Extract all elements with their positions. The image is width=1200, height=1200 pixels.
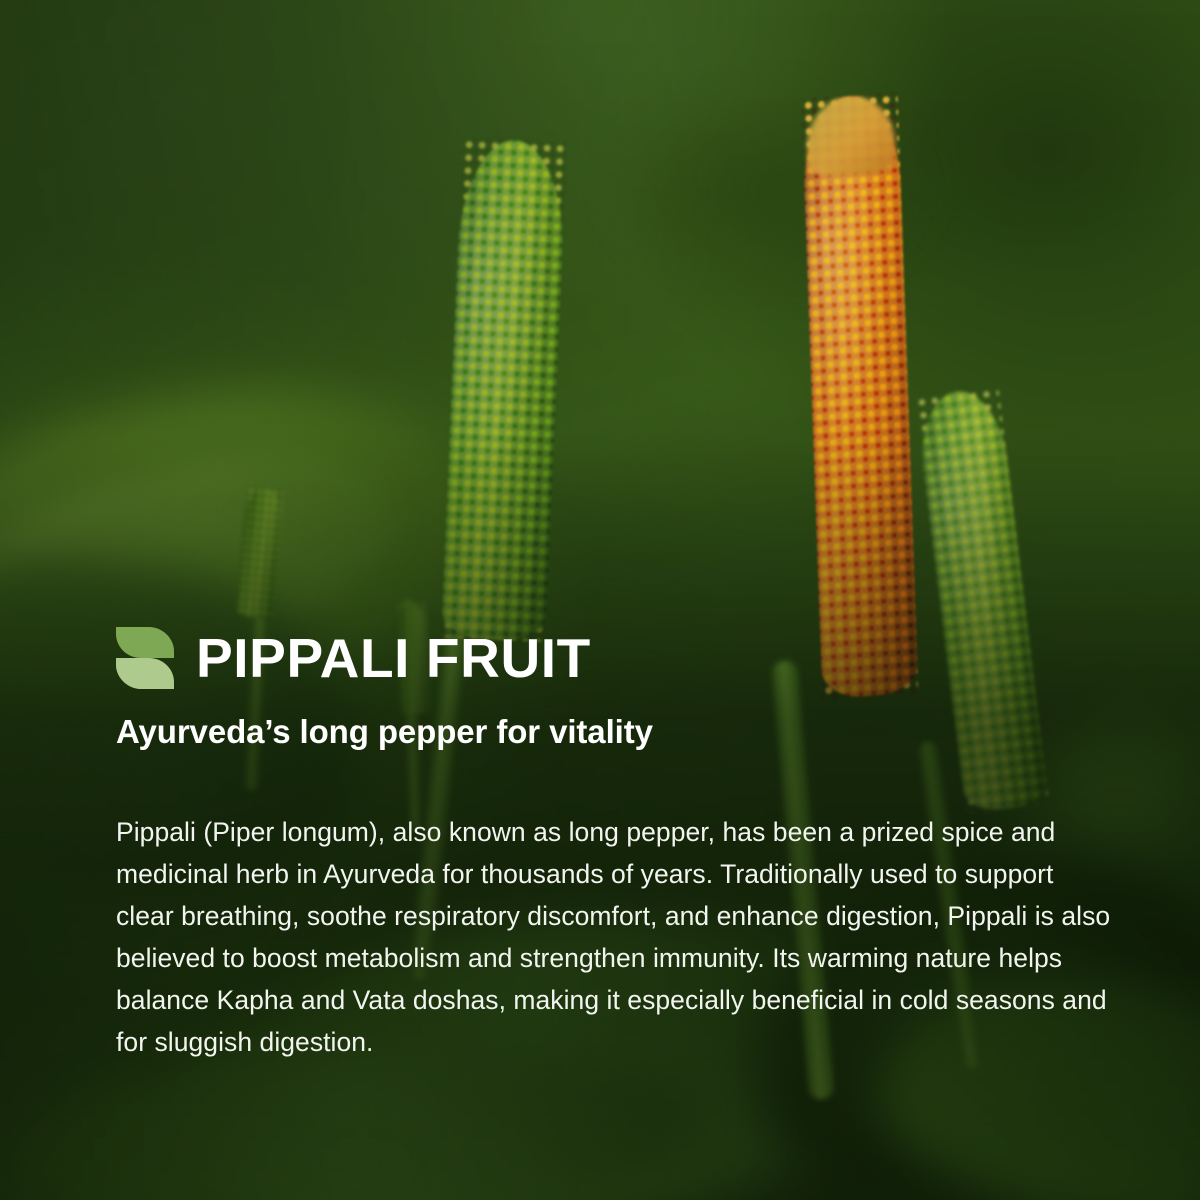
leaf-logo-icon bbox=[116, 627, 174, 689]
card-content: PIPPALI FRUIT Ayurveda’s long pepper for… bbox=[116, 625, 1116, 1063]
pippali-info-card: PIPPALI FRUIT Ayurveda’s long pepper for… bbox=[0, 0, 1200, 1200]
brand-row: PIPPALI FRUIT bbox=[116, 625, 1116, 691]
body-paragraph: Pippali (Piper longum), also known as lo… bbox=[116, 811, 1116, 1063]
subtitle: Ayurveda’s long pepper for vitality bbox=[116, 713, 1116, 751]
page-title: PIPPALI FRUIT bbox=[196, 631, 591, 686]
